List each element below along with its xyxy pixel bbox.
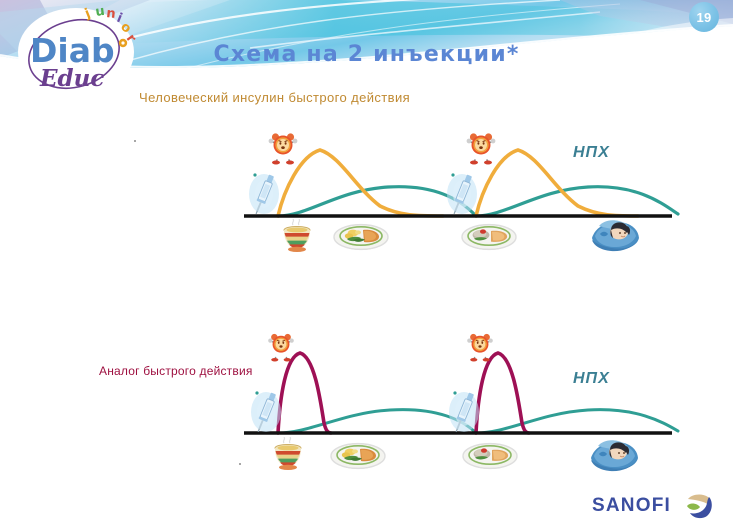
annotation-nph-top: НПХ bbox=[573, 144, 610, 162]
lunch-plate-icon bbox=[330, 440, 386, 470]
curve-human-insulin-morning bbox=[278, 150, 443, 216]
slide-canvas: 19 Diab Educ j u n i o r Схема bbox=[0, 0, 733, 530]
svg-text:n: n bbox=[106, 6, 117, 22]
alarm-clock-icon bbox=[265, 330, 297, 362]
lunch-plate-icon bbox=[333, 221, 389, 251]
dinner-plate-icon bbox=[462, 440, 518, 470]
breakfast-bowl-icon bbox=[268, 437, 308, 471]
syringe-icon bbox=[247, 168, 281, 216]
page-number-badge: 19 bbox=[689, 2, 719, 32]
svg-text:u: u bbox=[94, 4, 105, 20]
curve-rapid-analog-evening bbox=[476, 353, 529, 433]
artifact-dot bbox=[239, 463, 241, 465]
series-label-human-insulin: Человеческий инсулин быстрого действия bbox=[139, 90, 410, 105]
artifact-dot bbox=[134, 140, 136, 142]
syringe-icon bbox=[249, 386, 283, 434]
page-title: Схема на 2 инъекции* bbox=[0, 42, 733, 67]
curve-rapid-analog-morning bbox=[278, 353, 331, 433]
dinner-plate-icon bbox=[461, 221, 517, 251]
alarm-clock-icon bbox=[464, 330, 496, 362]
logo-text-educ: Educ bbox=[39, 65, 104, 92]
alarm-clock-icon bbox=[265, 129, 301, 165]
sanofi-wordmark: SANOFI bbox=[592, 495, 671, 517]
curve-nph-evening bbox=[476, 187, 678, 216]
sleeping-child-icon bbox=[588, 436, 640, 472]
syringe-icon bbox=[445, 168, 479, 216]
sleeping-child-icon bbox=[589, 216, 641, 252]
alarm-clock-icon bbox=[463, 129, 499, 165]
syringe-icon bbox=[447, 386, 481, 434]
breakfast-bowl-icon bbox=[277, 219, 317, 253]
curve-human-insulin-evening bbox=[476, 150, 638, 216]
sanofi-mark-icon bbox=[684, 492, 714, 520]
curve-nph-evening bbox=[476, 410, 678, 433]
series-label-rapid-analog: Аналог быстрого действия bbox=[99, 364, 253, 378]
annotation-nph-bottom: НПХ bbox=[573, 370, 610, 388]
sanofi-logo: SANOFI bbox=[592, 492, 714, 522]
